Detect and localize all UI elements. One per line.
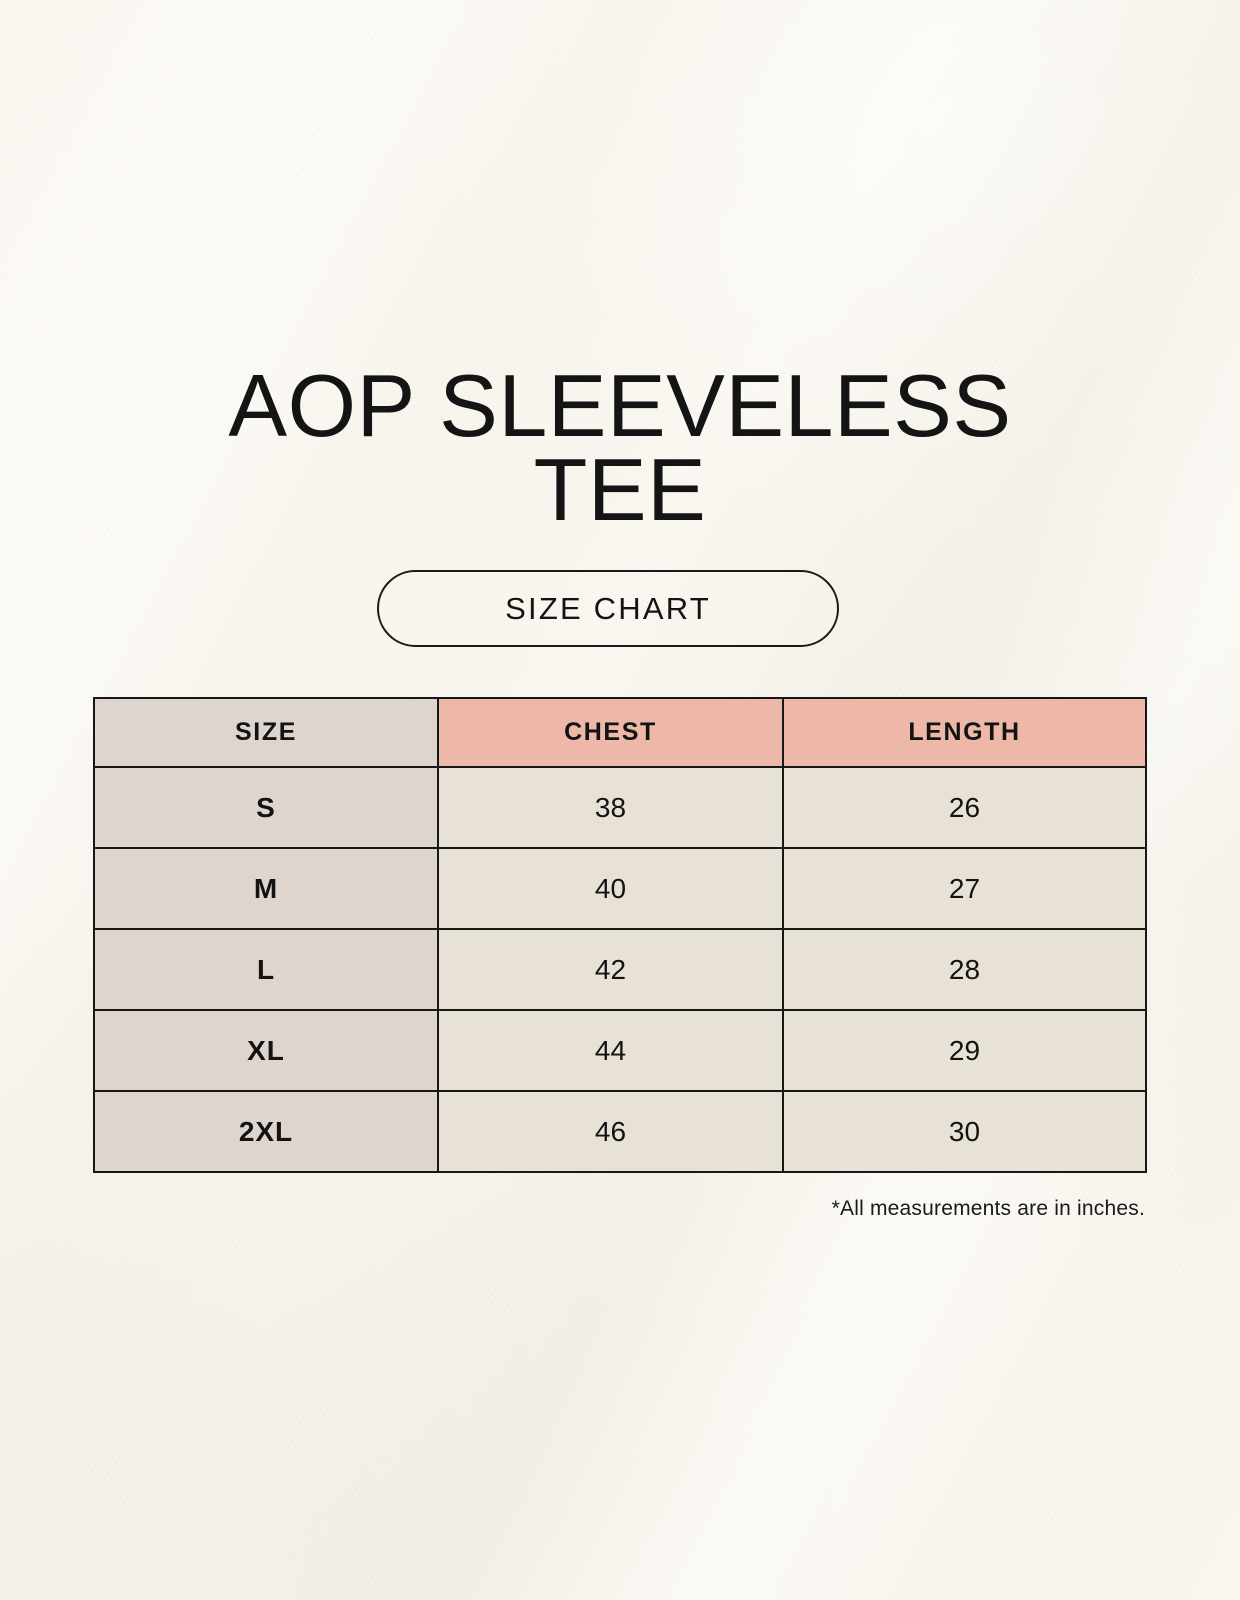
table-row: S 38 26 <box>94 767 1146 848</box>
table-row: XL 44 29 <box>94 1010 1146 1091</box>
cell-length: 28 <box>783 929 1146 1010</box>
cell-chest: 38 <box>438 767 783 848</box>
column-header-length: LENGTH <box>783 698 1146 767</box>
size-chart-badge: SIZE CHART <box>377 570 839 647</box>
size-chart-poster: AOP SLEEVELESS TEE SIZE CHART SIZE CHEST… <box>0 0 1240 1600</box>
cell-length: 27 <box>783 848 1146 929</box>
table-header: SIZE CHEST LENGTH <box>94 698 1146 767</box>
cell-chest: 40 <box>438 848 783 929</box>
cell-chest: 44 <box>438 1010 783 1091</box>
size-chart-table: SIZE CHEST LENGTH S 38 26 M 40 27 L 42 2… <box>93 697 1147 1173</box>
measurement-units-note: *All measurements are in inches. <box>93 1197 1145 1221</box>
table-header-row: SIZE CHEST LENGTH <box>94 698 1146 767</box>
page-title: AOP SLEEVELESS TEE <box>0 364 1240 532</box>
cell-length: 30 <box>783 1091 1146 1172</box>
table-row: 2XL 46 30 <box>94 1091 1146 1172</box>
cell-chest: 46 <box>438 1091 783 1172</box>
cell-size: M <box>94 848 438 929</box>
cell-size: S <box>94 767 438 848</box>
column-header-size: SIZE <box>94 698 438 767</box>
size-chart-badge-label: SIZE CHART <box>505 591 711 627</box>
cell-chest: 42 <box>438 929 783 1010</box>
column-header-chest: CHEST <box>438 698 783 767</box>
cell-size: L <box>94 929 438 1010</box>
table-row: M 40 27 <box>94 848 1146 929</box>
cell-length: 29 <box>783 1010 1146 1091</box>
table-row: L 42 28 <box>94 929 1146 1010</box>
cell-size: 2XL <box>94 1091 438 1172</box>
cell-length: 26 <box>783 767 1146 848</box>
table-body: S 38 26 M 40 27 L 42 28 XL 44 29 2XL 46 <box>94 767 1146 1172</box>
cell-size: XL <box>94 1010 438 1091</box>
